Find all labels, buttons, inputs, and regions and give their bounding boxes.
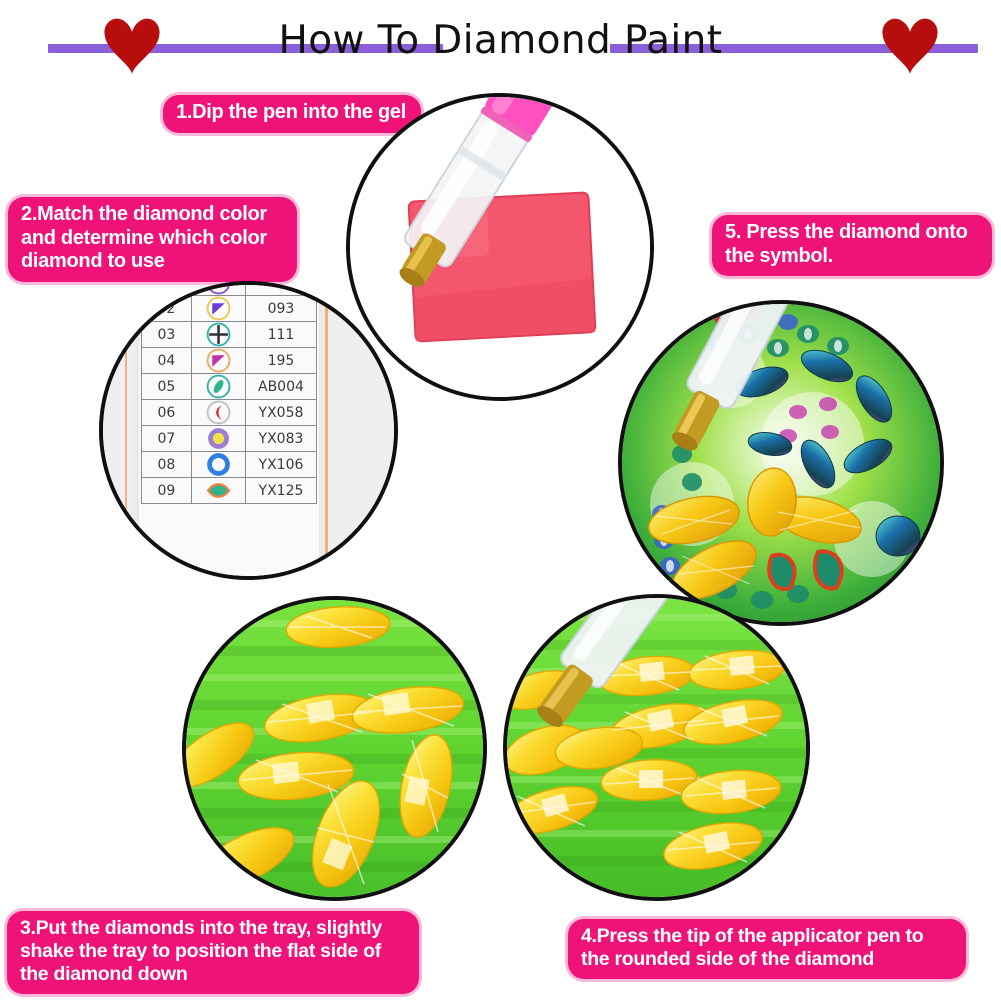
step-1-label: 1.Dip the pen into the gel xyxy=(163,95,421,133)
chart-cell-code: YX106 xyxy=(245,452,316,478)
step-4-label: 4.Press the tip of the applicator pen to… xyxy=(568,919,966,979)
chart-edge-line-right xyxy=(325,285,328,576)
chart-cell-number: 07 xyxy=(142,426,192,452)
chart-cell-number: 06 xyxy=(142,400,192,426)
photo-color-chart: 02802093031110419505AB00406YX05807YX0830… xyxy=(99,281,398,580)
chart-cell-code: YX058 xyxy=(245,400,316,426)
chart-symbol-icon xyxy=(191,452,245,478)
chart-symbol-icon xyxy=(191,400,245,426)
chart-edge-line-left xyxy=(125,285,127,576)
chart-cell-code: 111 xyxy=(245,322,316,348)
photo-pen-picking-gem xyxy=(503,594,810,901)
chart-cell-number xyxy=(142,281,192,296)
chart-symbol-icon xyxy=(191,348,245,374)
chart-symbol-icon xyxy=(191,281,245,296)
color-chart-row: 02093 xyxy=(142,296,317,322)
photo-gems-in-tray xyxy=(182,596,487,901)
color-chart-row: 05AB004 xyxy=(142,374,317,400)
color-chart-photo: 02802093031110419505AB00406YX05807YX0830… xyxy=(103,285,394,576)
chart-cell-code: 195 xyxy=(245,348,316,374)
step-3-label: 3.Put the diamonds into the tray, slight… xyxy=(7,911,419,994)
chart-cell-number: 02 xyxy=(142,296,192,322)
chart-cell-code: YX125 xyxy=(245,478,316,504)
step-5-label: 5. Press the diamond onto the symbol. xyxy=(712,215,992,276)
chart-cell-number: 09 xyxy=(142,478,192,504)
chart-cell-code: AB004 xyxy=(245,374,316,400)
chart-cell-code: 093 xyxy=(245,296,316,322)
color-chart-row: 08YX106 xyxy=(142,452,317,478)
color-chart-row: 03111 xyxy=(142,322,317,348)
page-header: How To Diamond Paint xyxy=(0,0,1001,88)
color-chart-row: 04195 xyxy=(142,348,317,374)
chart-symbol-icon xyxy=(191,296,245,322)
chart-cell-number: 08 xyxy=(142,452,192,478)
chart-symbol-icon xyxy=(191,374,245,400)
color-chart-row: 09YX125 xyxy=(142,478,317,504)
chart-cell-number: 03 xyxy=(142,322,192,348)
chart-cell-code: 028 xyxy=(245,281,316,296)
chart-cell-code: YX083 xyxy=(245,426,316,452)
color-chart-table: 02802093031110419505AB00406YX05807YX0830… xyxy=(141,281,317,504)
color-chart-row: 06YX058 xyxy=(142,400,317,426)
photo-placing-gem-on-canvas xyxy=(618,300,944,626)
chart-cell-number: 04 xyxy=(142,348,192,374)
color-chart-row: 07YX083 xyxy=(142,426,317,452)
chart-symbol-icon xyxy=(191,426,245,452)
chart-cell-number: 05 xyxy=(142,374,192,400)
page-title: How To Diamond Paint xyxy=(0,18,1001,63)
color-chart-row: 028 xyxy=(142,281,317,296)
chart-symbol-icon xyxy=(191,478,245,504)
chart-symbol-icon xyxy=(191,322,245,348)
step-2-label: 2.Match the diamond color and determine … xyxy=(8,197,297,282)
